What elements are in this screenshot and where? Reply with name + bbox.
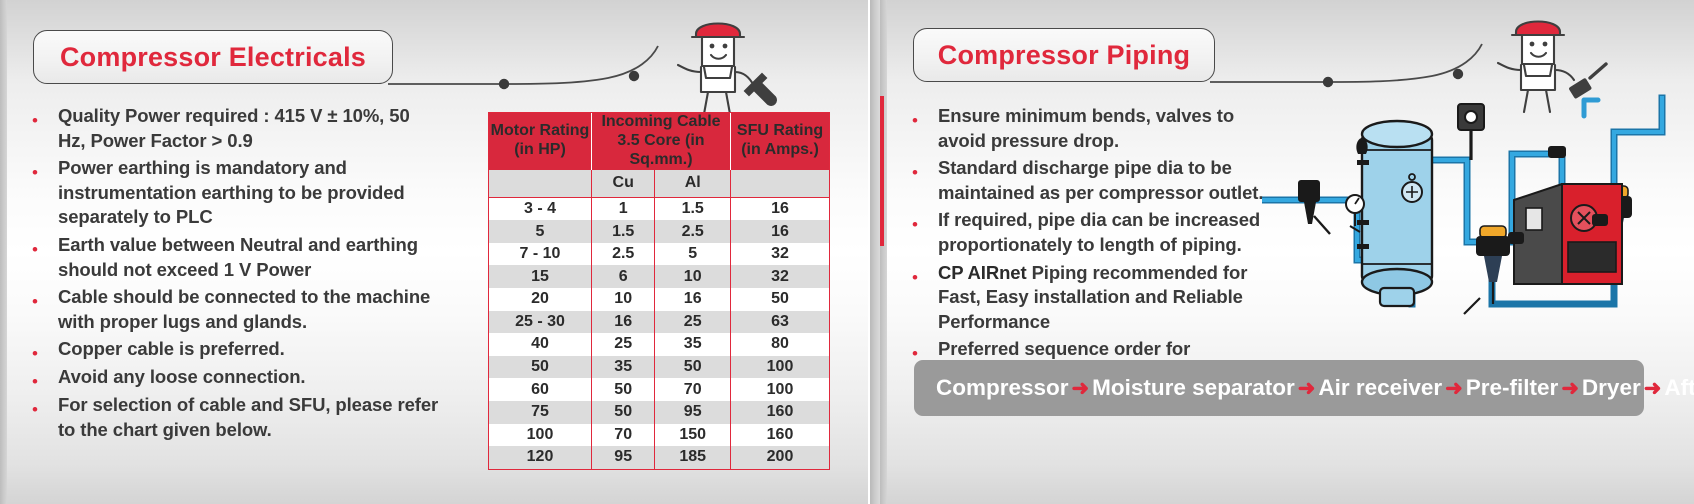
table-cell: 25 bbox=[655, 311, 731, 334]
bullet-text: Power earthing is mandatory and instrume… bbox=[58, 156, 442, 230]
table-row: 51.52.516 bbox=[489, 220, 829, 243]
bullet-marker-icon: • bbox=[32, 285, 58, 310]
sequence-step: Pre-filter bbox=[1466, 375, 1559, 401]
list-item: • Power earthing is mandatory and instru… bbox=[32, 156, 442, 230]
list-item: • For selection of cable and SFU, please… bbox=[32, 393, 442, 442]
pressure-gauge-icon bbox=[1346, 195, 1364, 232]
table-cell: 3 - 4 bbox=[489, 197, 592, 220]
table-cell: 16 bbox=[731, 197, 830, 220]
table-row: 20101650 bbox=[489, 288, 829, 311]
right-edge-strip bbox=[880, 0, 887, 504]
table-cell: 1.5 bbox=[592, 220, 655, 243]
table-cell: 16 bbox=[655, 288, 731, 311]
table-cell: 80 bbox=[731, 333, 830, 356]
connector-dot-1 bbox=[499, 79, 509, 89]
list-item: • Earth value between Neutral and earthi… bbox=[32, 233, 442, 282]
table-cell: 35 bbox=[592, 356, 655, 379]
screwdriver-icon bbox=[1568, 64, 1606, 99]
subhdr-cu: Cu bbox=[592, 170, 655, 198]
th-incoming-cable: Incoming Cable 3.5 Core (in Sq.mm.) bbox=[592, 113, 731, 170]
table-cell: 60 bbox=[489, 378, 592, 401]
table-subheader-row: Cu Al bbox=[489, 170, 829, 198]
sequence-step: Air receiver bbox=[1318, 375, 1442, 401]
table-cell: 185 bbox=[655, 446, 731, 469]
bullet-marker-icon: • bbox=[912, 337, 938, 362]
th-sfu-rating: SFU Rating (in Amps.) bbox=[731, 113, 830, 170]
table-cell: 35 bbox=[655, 333, 731, 356]
table-cell: 160 bbox=[731, 424, 830, 447]
bullet-marker-icon: • bbox=[32, 393, 58, 418]
th-motor-rating: Motor Rating (in HP) bbox=[489, 113, 592, 170]
list-item: • Avoid any loose connection. bbox=[32, 365, 442, 390]
cable-sfu-rating-table: Motor Rating (in HP) Incoming Cable 3.5 … bbox=[488, 112, 830, 470]
table-cell: 120 bbox=[489, 446, 592, 469]
sequence-arrow-icon: ➜ bbox=[1561, 378, 1579, 399]
table-row: 503550100 bbox=[489, 356, 829, 379]
table-cell: 100 bbox=[731, 378, 830, 401]
sequence-step: Dryer bbox=[1582, 375, 1641, 401]
table-cell: 10 bbox=[655, 265, 731, 288]
table-body: 3 - 411.51651.52.5167 - 102.553215610322… bbox=[489, 197, 829, 469]
wall-sensor-icon bbox=[1458, 104, 1484, 160]
bullet-text: For selection of cable and SFU, please r… bbox=[58, 393, 442, 442]
sequence-step: Moisture separator bbox=[1092, 375, 1295, 401]
table-cell: 25 bbox=[592, 333, 655, 356]
worker-with-wrench-icon bbox=[672, 10, 782, 122]
list-item: • Quality Power required : 415 V ± 10%, … bbox=[32, 104, 442, 153]
sequence-arrow-icon: ➜ bbox=[1298, 378, 1316, 399]
compressor-piping-diagram bbox=[1262, 92, 1682, 330]
table-cell: 50 bbox=[655, 356, 731, 379]
table-cell: 95 bbox=[655, 401, 731, 424]
table-row: 12095185200 bbox=[489, 446, 829, 469]
left-title-container: Compressor Electricals bbox=[33, 30, 393, 84]
table-row: 10070150160 bbox=[489, 424, 829, 447]
table-cell: 100 bbox=[731, 356, 830, 379]
connector-dot-2 bbox=[1453, 69, 1463, 79]
bullet-text: Copper cable is preferred. bbox=[58, 337, 285, 362]
bullet-text: Earth value between Neutral and earthing… bbox=[58, 233, 442, 282]
table-cell: 40 bbox=[489, 333, 592, 356]
sequence-step: Compressor bbox=[936, 375, 1069, 401]
table-cell: 70 bbox=[592, 424, 655, 447]
subhdr-blank-right bbox=[731, 170, 830, 198]
right-title-container: Compressor Piping bbox=[913, 28, 1215, 82]
table-cell: 70 bbox=[655, 378, 731, 401]
bullet-text: CP AIRnet Piping recommended for Fast, E… bbox=[938, 261, 1282, 335]
table-cell: 10 bbox=[592, 288, 655, 311]
page-title-text: Compressor Electricals bbox=[60, 42, 366, 73]
table-cell: 20 bbox=[489, 288, 592, 311]
table-cell: 200 bbox=[731, 446, 830, 469]
pre-filter-icon bbox=[1464, 226, 1510, 314]
bullet-marker-icon: • bbox=[32, 104, 58, 129]
worker-with-screwdriver-icon bbox=[1492, 8, 1610, 122]
table-row: 755095160 bbox=[489, 401, 829, 424]
list-item-cp-airnet: • CP AIRnet Piping recommended for Fast,… bbox=[912, 261, 1282, 335]
hex-key-icon bbox=[1584, 100, 1598, 116]
panel-title-piping: Compressor Piping bbox=[913, 28, 1215, 82]
after-filter-icon bbox=[1598, 186, 1632, 242]
th-motor-rating-unit: (in HP) bbox=[489, 141, 591, 160]
bullet-marker-icon: • bbox=[32, 337, 58, 362]
th-sfu-rating-main: SFU Rating bbox=[731, 122, 829, 141]
table-cell: 50 bbox=[592, 378, 655, 401]
bullet-marker-icon: • bbox=[32, 233, 58, 258]
page-title-text: Compressor Piping bbox=[938, 40, 1190, 71]
right-panel: Compressor Piping bbox=[880, 0, 1694, 504]
table-row: 25 - 30162563 bbox=[489, 311, 829, 334]
bullet-text: If required, pipe dia can be increased p… bbox=[938, 208, 1282, 257]
table-cell: 5 bbox=[489, 220, 592, 243]
table-row: 40253580 bbox=[489, 333, 829, 356]
th-incoming-cable-unit: 3.5 Core (in Sq.mm.) bbox=[592, 132, 730, 170]
table-cell: 2.5 bbox=[592, 243, 655, 266]
slide-root: Compressor Electricals bbox=[0, 0, 1694, 504]
connector-dot-1 bbox=[1323, 77, 1333, 87]
table-cell: 50 bbox=[489, 356, 592, 379]
list-item: • Copper cable is preferred. bbox=[32, 337, 442, 362]
table-cell: 5 bbox=[655, 243, 731, 266]
list-item: • If required, pipe dia can be increased… bbox=[912, 208, 1282, 257]
air-receiver-tank bbox=[1346, 121, 1432, 306]
bullet-marker-icon: • bbox=[912, 104, 938, 129]
bullet-marker-icon: • bbox=[32, 156, 58, 181]
sequence-steps: Compressor➜Moisture separator➜Air receiv… bbox=[914, 375, 1644, 401]
bullet-text: Avoid any loose connection. bbox=[58, 365, 305, 390]
table-cell: 75 bbox=[489, 401, 592, 424]
table-cell: 6 bbox=[592, 265, 655, 288]
table-cell: 50 bbox=[731, 288, 830, 311]
table-cell: 100 bbox=[489, 424, 592, 447]
left-panel: Compressor Electricals bbox=[0, 0, 868, 504]
inlet-filter-icon bbox=[1298, 180, 1330, 234]
table-cell: 160 bbox=[731, 401, 830, 424]
table-cell: 16 bbox=[592, 311, 655, 334]
table-header-row: Motor Rating (in HP) Incoming Cable 3.5 … bbox=[489, 113, 829, 170]
bullet-text: Ensure minimum bends, valves to avoid pr… bbox=[938, 104, 1282, 153]
list-item: • Ensure minimum bends, valves to avoid … bbox=[912, 104, 1282, 153]
table-row: 1561032 bbox=[489, 265, 829, 288]
sequence-arrow-icon: ➜ bbox=[1072, 378, 1090, 399]
sequence-step: After filter bbox=[1664, 375, 1694, 401]
sequence-arrow-icon: ➜ bbox=[1445, 378, 1463, 399]
bullet-marker-icon: • bbox=[912, 156, 938, 181]
table-cell: 25 - 30 bbox=[489, 311, 592, 334]
installation-sequence-banner: Compressor➜Moisture separator➜Air receiv… bbox=[914, 360, 1644, 416]
subhdr-blank-left bbox=[489, 170, 592, 198]
table-cell: 1 bbox=[592, 197, 655, 220]
th-sfu-rating-unit: (in Amps.) bbox=[731, 141, 829, 160]
bullet-marker-icon: • bbox=[912, 261, 938, 286]
right-bullet-list: • Ensure minimum bends, valves to avoid … bbox=[912, 104, 1282, 390]
table-cell: 7 - 10 bbox=[489, 243, 592, 266]
cp-airnet-brand: CP AIRnet bbox=[938, 262, 1027, 283]
bullet-marker-icon: • bbox=[32, 365, 58, 390]
bullet-text: Standard discharge pipe dia to be mainta… bbox=[938, 156, 1282, 205]
panel-title-electricals: Compressor Electricals bbox=[33, 30, 393, 84]
table-cell: 95 bbox=[592, 446, 655, 469]
table-cell: 15 bbox=[489, 265, 592, 288]
table-row: 7 - 102.5532 bbox=[489, 243, 829, 266]
left-edge-strip bbox=[0, 0, 7, 504]
table-cell: 50 bbox=[592, 401, 655, 424]
table-cell: 2.5 bbox=[655, 220, 731, 243]
table-row: 3 - 411.516 bbox=[489, 197, 829, 220]
connector-dot-2 bbox=[629, 71, 639, 81]
bullet-text: Quality Power required : 415 V ± 10%, 50… bbox=[58, 104, 442, 153]
table-cell: 63 bbox=[731, 311, 830, 334]
list-item: • Cable should be connected to the machi… bbox=[32, 285, 442, 334]
left-bullet-list: • Quality Power required : 415 V ± 10%, … bbox=[32, 104, 442, 446]
subhdr-al: Al bbox=[655, 170, 731, 198]
bullet-marker-icon: • bbox=[912, 208, 938, 233]
table-cell: 16 bbox=[731, 220, 830, 243]
table-cell: 1.5 bbox=[655, 197, 731, 220]
bullet-text: Cable should be connected to the machine… bbox=[58, 285, 442, 334]
table-row: 605070100 bbox=[489, 378, 829, 401]
table-cell: 32 bbox=[731, 243, 830, 266]
table-cell: 150 bbox=[655, 424, 731, 447]
th-motor-rating-main: Motor Rating bbox=[489, 122, 591, 141]
red-accent-tick bbox=[880, 96, 884, 246]
table-cell: 32 bbox=[731, 265, 830, 288]
list-item: • Standard discharge pipe dia to be main… bbox=[912, 156, 1282, 205]
dryer-unit bbox=[1514, 184, 1622, 284]
sequence-arrow-icon: ➜ bbox=[1644, 378, 1662, 399]
th-incoming-cable-main: Incoming Cable bbox=[592, 113, 730, 132]
